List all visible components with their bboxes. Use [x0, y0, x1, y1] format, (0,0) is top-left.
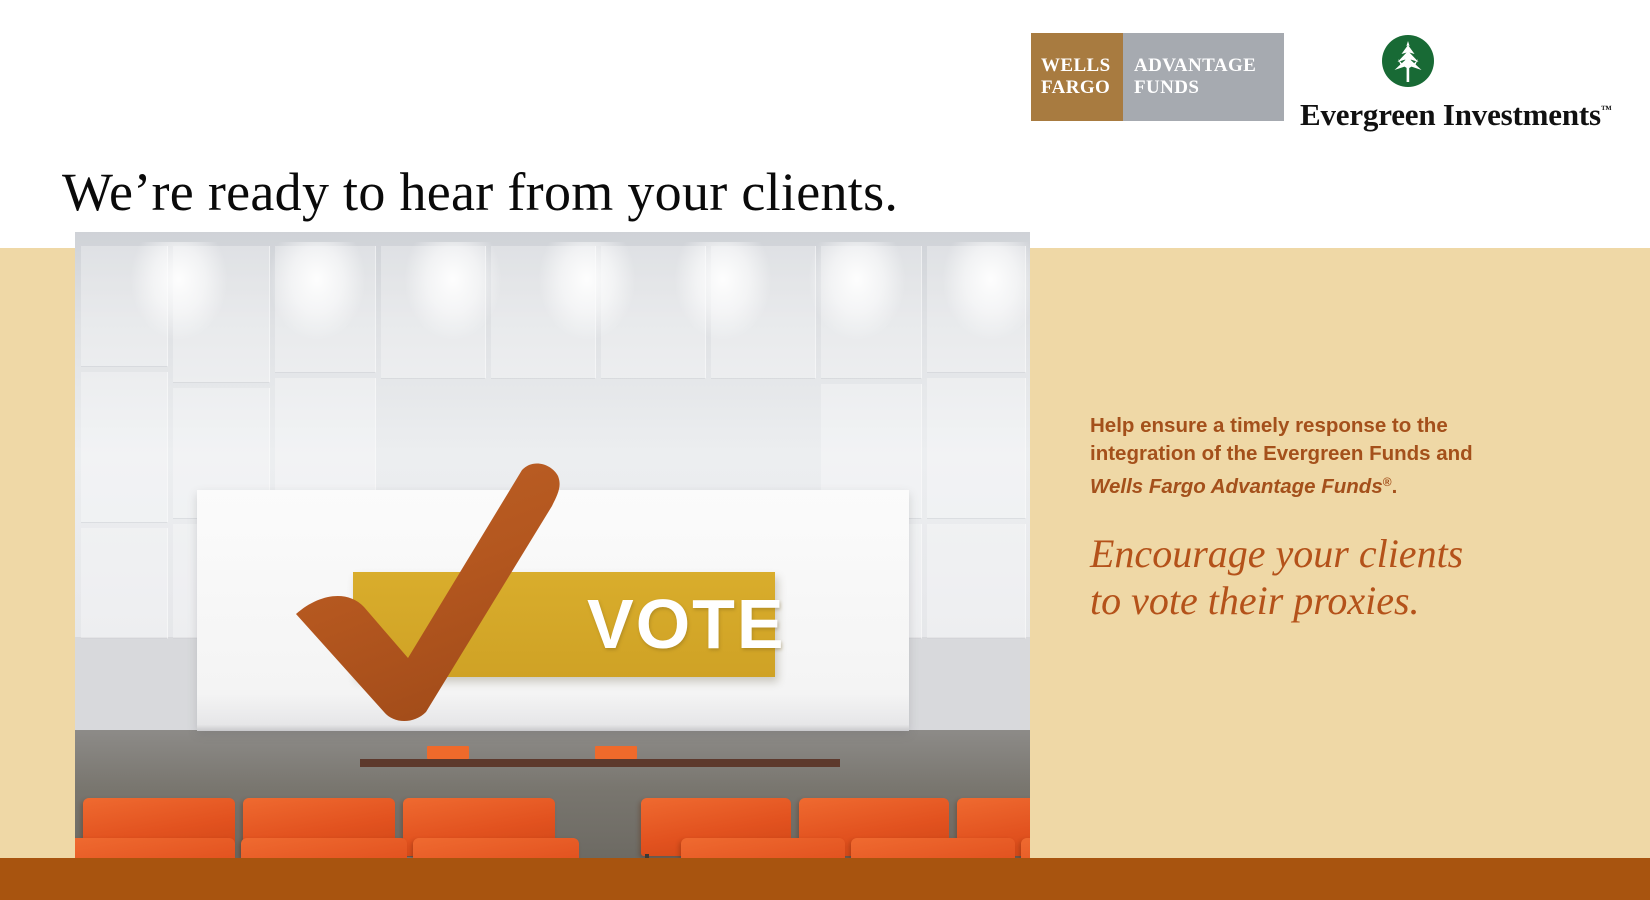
chair	[1021, 838, 1030, 858]
projection-screen-rail	[197, 724, 909, 731]
chair	[681, 838, 845, 858]
ceiling-light-glow	[797, 242, 917, 412]
ceiling-light-glow	[119, 242, 239, 412]
wells-fargo-line-1: WELLS	[1041, 55, 1123, 77]
evergreen-investments-logo: Evergreen Investments™	[1300, 35, 1600, 127]
podium-paper	[595, 746, 637, 759]
wall-block	[927, 524, 1026, 639]
ceiling-light-glow	[663, 242, 783, 412]
evergreen-wordmark-text: Evergreen Investments	[1300, 97, 1601, 132]
advantage-funds-line-2: FUNDS	[1134, 77, 1284, 99]
ceiling-light-glow	[931, 242, 1030, 412]
wells-fargo-logo-block: WELLS FARGO	[1031, 33, 1123, 121]
evergreen-wordmark: Evergreen Investments™	[1300, 93, 1600, 132]
wall-block	[81, 528, 168, 639]
ceiling-light-glow	[527, 242, 647, 412]
ceiling-light-glow	[393, 242, 513, 412]
copy-lede-paragraph: Help ensure a timely response to the int…	[1090, 412, 1520, 501]
page-headline: We’re ready to hear from your clients.	[62, 163, 898, 221]
checkmark-icon	[290, 462, 580, 724]
pine-tree-icon	[1382, 35, 1434, 87]
registered-symbol: ®	[1383, 475, 1392, 489]
header-logo-strip: WELLS FARGO ADVANTAGE FUNDS Evergreen In…	[0, 0, 1650, 148]
ceiling-light-glow	[257, 242, 377, 412]
trademark-symbol: ™	[1601, 104, 1612, 116]
chair	[851, 838, 1015, 858]
advantage-funds-logo-block: ADVANTAGE FUNDS	[1123, 33, 1284, 121]
vote-banner-label: VOTE	[587, 587, 787, 661]
advantage-funds-line-1: ADVANTAGE	[1134, 55, 1284, 77]
chair	[75, 838, 235, 858]
fund-name-italic: Wells Fargo Advantage Funds	[1090, 475, 1383, 498]
tagline: Encourage your clientsto vote their prox…	[1090, 530, 1520, 624]
copy-lede-period: .	[1392, 475, 1398, 498]
wells-fargo-line-2: FARGO	[1041, 77, 1123, 99]
chair	[413, 838, 579, 858]
wells-fargo-advantage-funds-logo: WELLS FARGO ADVANTAGE FUNDS	[1031, 33, 1284, 121]
marketing-copy-block: Help ensure a timely response to the int…	[1090, 412, 1520, 624]
tagline-line-1: Encourage your clients	[1090, 531, 1463, 576]
auditorium-with-vote-banner-photo: VOTE	[75, 232, 1030, 858]
copy-lede-text: Help ensure a timely response to the int…	[1090, 414, 1473, 465]
bottom-accent-bar	[0, 858, 1650, 900]
podium-paper	[427, 746, 469, 759]
chair	[241, 838, 407, 858]
tagline-line-2: to vote their proxies.	[1090, 578, 1420, 623]
